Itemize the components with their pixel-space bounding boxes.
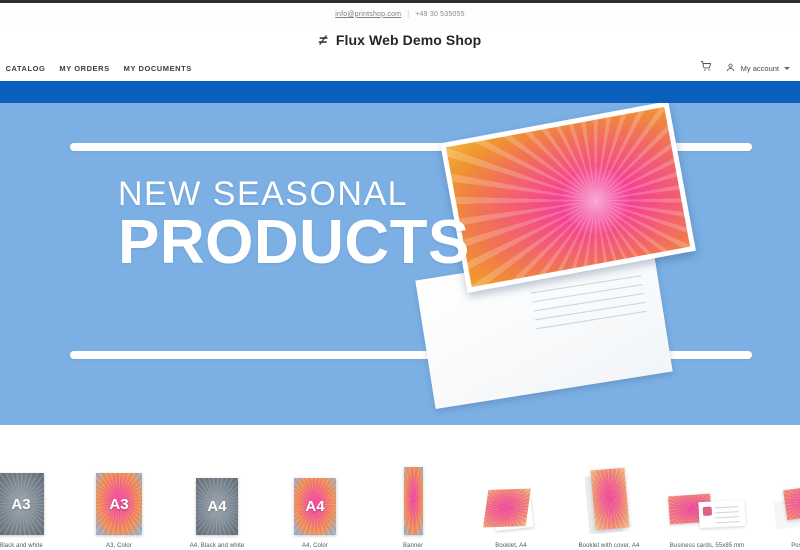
- sheet-color-icon: A4: [294, 478, 336, 535]
- product-card[interactable]: Banner: [364, 451, 462, 549]
- product-thumbnail: [364, 451, 462, 535]
- product-card[interactable]: A3 A3, Color: [70, 451, 168, 549]
- product-label: Banner: [403, 543, 423, 549]
- product-card[interactable]: A3 Black and white: [0, 451, 70, 549]
- contact-topbar: info@printshop.com | +49 30 535055: [0, 3, 800, 25]
- hero-headline-small: NEW SEASONAL: [118, 177, 470, 211]
- cart-icon[interactable]: [700, 59, 712, 77]
- product-thumbnail: [462, 451, 560, 535]
- accent-bar: [0, 81, 800, 103]
- hero-headline-large: PRODUCTS: [118, 213, 470, 274]
- product-card[interactable]: Booklet with cover, A4: [560, 451, 658, 549]
- postcard-front: [440, 103, 696, 293]
- banner-icon: [404, 467, 423, 535]
- nav-items: S CATALOG MY ORDERS MY DOCUMENTS: [0, 64, 192, 73]
- product-label: A4, Black and white: [190, 543, 245, 549]
- product-thumbnail: [658, 451, 756, 535]
- booklet-with-cover-icon: [585, 469, 633, 535]
- product-thumbnail: [560, 451, 658, 535]
- product-label: Booklet with cover, A4: [579, 543, 640, 549]
- product-label: Postcards: [791, 543, 800, 549]
- nav-item-my-documents[interactable]: MY DOCUMENTS: [124, 64, 192, 73]
- product-list: A3 Black and white A3 A3, Color A4 A4, B…: [0, 437, 800, 549]
- user-icon: [725, 62, 736, 75]
- sheet-gray-icon: A4: [196, 478, 238, 535]
- nav-item-catalog[interactable]: CATALOG: [6, 64, 46, 73]
- product-card[interactable]: Booklet, A4: [462, 451, 560, 549]
- product-thumbnail: A4: [168, 451, 266, 535]
- product-thumbnail: A3: [0, 451, 70, 535]
- nav-actions: My account: [700, 59, 790, 77]
- product-label: Business cards, 55x85 mm: [670, 543, 744, 549]
- browser-page: info@printshop.com | +49 30 535055 ≠ Flu…: [0, 0, 800, 550]
- postcard-icon: [775, 485, 800, 535]
- contact-email-link[interactable]: info@printshop.com: [335, 11, 401, 18]
- product-thumbnail: A4: [266, 451, 364, 535]
- my-account-label: My account: [741, 64, 779, 73]
- product-thumbnail: [756, 451, 800, 535]
- sheet-color-icon: A3: [96, 473, 142, 535]
- hero-banner: NEW SEASONAL PRODUCTS: [0, 103, 800, 425]
- product-card[interactable]: Business cards, 55x85 mm: [658, 451, 756, 549]
- my-account-menu[interactable]: My account: [725, 62, 790, 75]
- product-strip: A3 Black and white A3 A3, Color A4 A4, B…: [0, 425, 800, 550]
- main-navigation: S CATALOG MY ORDERS MY DOCUMENTS: [0, 55, 800, 81]
- business-cards-icon: [669, 489, 745, 535]
- address-lines: [531, 275, 650, 346]
- product-card[interactable]: Postcards: [756, 451, 800, 549]
- product-label: Black and white: [0, 543, 43, 549]
- brand-header: ≠ Flux Web Demo Shop: [0, 25, 800, 55]
- booklet-icon: [486, 489, 536, 535]
- hero-text: NEW SEASONAL PRODUCTS: [118, 177, 470, 274]
- product-card[interactable]: A4 A4, Color: [266, 451, 364, 549]
- product-label: A3, Color: [106, 543, 132, 549]
- chevron-down-icon: [784, 67, 790, 70]
- nav-item-my-orders[interactable]: MY ORDERS: [59, 64, 109, 73]
- sheet-gray-icon: A3: [0, 473, 44, 535]
- contact-phone: +49 30 535055: [415, 11, 465, 18]
- product-label: A4, Color: [302, 543, 328, 549]
- shop-title: Flux Web Demo Shop: [336, 32, 481, 48]
- topbar-separator: |: [407, 11, 409, 18]
- shop-logo-icon: ≠: [317, 33, 328, 48]
- product-card[interactable]: A4 A4, Black and white: [168, 451, 266, 549]
- product-label: Booklet, A4: [495, 543, 526, 549]
- product-thumbnail: A3: [70, 451, 168, 535]
